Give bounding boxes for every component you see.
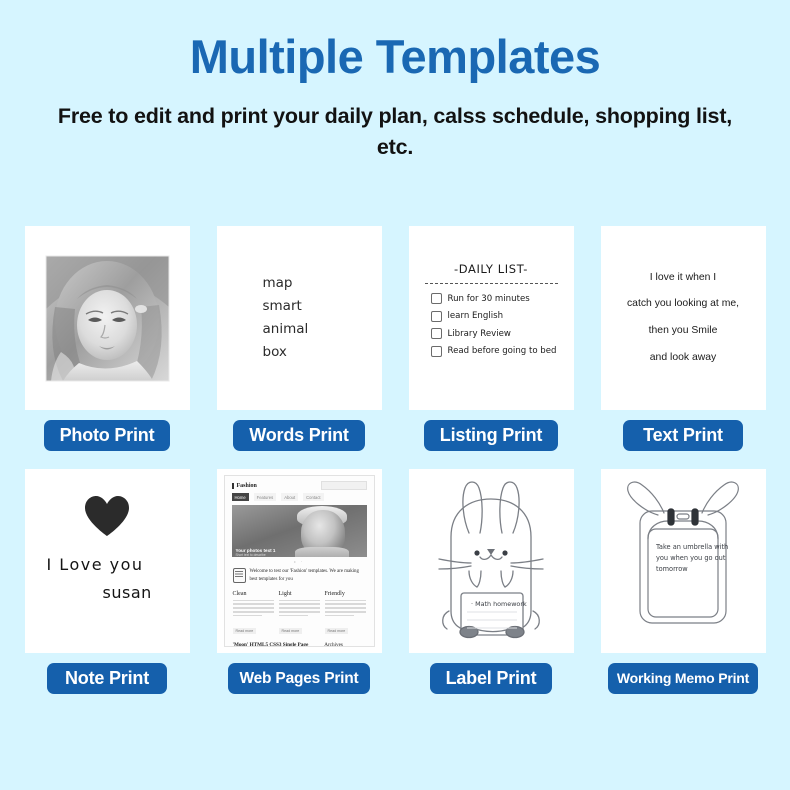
page-header: Multiple Templates Free to edit and prin… xyxy=(0,0,790,163)
template-cell-text-print: I love it when I catch you looking at me… xyxy=(601,226,766,451)
template-cell-listing-print: -DAILY LIST- Run for 30 minutes learn En… xyxy=(409,226,574,451)
sidebar-heading: Archives xyxy=(324,642,365,647)
bottom-heading: 'Moon' HTML5 CSS3 Single Page Layout xyxy=(233,642,320,647)
template-card-web-pages-print[interactable]: Fashion Home Features About Contact Your… xyxy=(217,469,382,653)
webpage-screenshot: Fashion Home Features About Contact Your… xyxy=(224,475,375,647)
label-print-button[interactable]: Label Print xyxy=(430,663,553,694)
webpage-nav: Home Features About Contact xyxy=(225,493,374,505)
webpage-hero-image: Your photos text 1 Short text to describ… xyxy=(232,505,367,557)
memo-line-3: tomorrow xyxy=(656,565,688,573)
carousel-dots-icon: • · xyxy=(225,559,374,564)
column-heading: Light xyxy=(279,591,320,597)
page-subtitle: Free to edit and print your daily plan, … xyxy=(45,101,745,163)
webpage-column: Friendly Read more xyxy=(325,591,366,637)
word-item: smart xyxy=(263,295,382,318)
memo-line-2: you when you go out xyxy=(656,554,726,562)
template-card-label-print[interactable]: · Math homework xyxy=(409,469,574,653)
template-card-working-memo-print[interactable]: Take an umbrella with you when you go ou… xyxy=(601,469,766,653)
word-item: box xyxy=(263,341,382,364)
column-text-placeholder xyxy=(279,600,320,617)
template-cell-working-memo-print: Take an umbrella with you when you go ou… xyxy=(601,469,766,694)
webpage-header: Fashion xyxy=(225,476,374,493)
webpage-nav-item: Contact xyxy=(303,493,323,501)
text-line: and look away xyxy=(650,345,716,372)
label-text: · Math homework xyxy=(471,600,527,608)
daily-list-title: -DAILY LIST- xyxy=(423,262,560,276)
checkbox-icon[interactable] xyxy=(431,346,442,357)
note-line-1: I Love you xyxy=(47,555,144,574)
html5-badge-icon xyxy=(233,568,246,583)
read-more-link: Read more xyxy=(233,628,257,634)
webpage-welcome-text: Welcome to test our 'Fashion' templates.… xyxy=(250,568,366,584)
checkbox-icon[interactable] xyxy=(431,293,442,304)
list-item-label: Run for 30 minutes xyxy=(448,294,530,304)
list-item: Run for 30 minutes xyxy=(431,293,560,304)
word-list: map smart animal box xyxy=(217,226,382,410)
webpage-logo: Fashion xyxy=(232,483,257,489)
photo-print-button[interactable]: Photo Print xyxy=(44,420,171,451)
webpage-column: Light Read more xyxy=(279,591,320,637)
column-text-placeholder xyxy=(233,600,274,617)
checkbox-icon[interactable] xyxy=(431,311,442,322)
list-item-label: Library Review xyxy=(448,329,511,339)
working-memo-print-button[interactable]: Working Memo Print xyxy=(608,663,758,694)
text-print-button[interactable]: Text Print xyxy=(623,420,743,451)
list-item: Read before going to bed xyxy=(431,346,560,357)
template-grid: Photo Print map smart animal box Words P… xyxy=(0,226,790,694)
read-more-link: Read more xyxy=(279,628,303,634)
template-card-words-print[interactable]: map smart animal box xyxy=(217,226,382,410)
webpage-nav-item: About xyxy=(281,493,298,501)
template-cell-note-print: I Love you susan Note Print xyxy=(25,469,190,694)
template-cell-words-print: map smart animal box Words Print xyxy=(217,226,382,451)
list-item-label: Read before going to bed xyxy=(448,346,557,356)
webpage-nav-item: Features xyxy=(254,493,277,501)
note-content: I Love you susan xyxy=(25,469,190,653)
text-line: then you Smile xyxy=(649,318,718,345)
webpage-search-box xyxy=(321,481,367,490)
webpage-columns: Clean Read more Light Read more Friendly xyxy=(225,588,374,637)
heart-icon xyxy=(84,495,130,537)
column-text-placeholder xyxy=(325,600,366,617)
word-item: map xyxy=(263,272,382,295)
read-more-link: Read more xyxy=(325,628,349,634)
note-print-button[interactable]: Note Print xyxy=(47,663,167,694)
memo-badge-outline-icon: Take an umbrella with you when you go ou… xyxy=(614,477,752,645)
webpage-bottom-main: 'Moon' HTML5 CSS3 Single Page Layout Rea… xyxy=(233,642,320,647)
webpage-bottom: 'Moon' HTML5 CSS3 Single Page Layout Rea… xyxy=(225,637,374,647)
text-line: I love it when I xyxy=(650,265,716,292)
bunny-label-art: · Math homework xyxy=(409,469,574,653)
template-card-text-print[interactable]: I love it when I catch you looking at me… xyxy=(601,226,766,410)
memo-line-1: Take an umbrella with xyxy=(655,543,728,551)
memo-badge-art: Take an umbrella with you when you go ou… xyxy=(601,469,766,653)
listing-print-button[interactable]: Listing Print xyxy=(424,420,558,451)
note-line-2: susan xyxy=(103,583,152,602)
daily-list: -DAILY LIST- Run for 30 minutes learn En… xyxy=(409,226,574,410)
webpage-nav-item: Home xyxy=(232,493,249,501)
checkbox-icon[interactable] xyxy=(431,328,442,339)
page-title: Multiple Templates xyxy=(0,32,790,83)
column-heading: Clean xyxy=(233,591,274,597)
webpage-sidebar: Archives xyxy=(324,642,365,647)
word-item: animal xyxy=(263,318,382,341)
template-cell-web-pages-print: Fashion Home Features About Contact Your… xyxy=(217,469,382,694)
list-item-label: learn English xyxy=(448,311,504,321)
list-item: learn English xyxy=(431,311,560,322)
webpage-column: Clean Read more xyxy=(233,591,274,637)
template-card-listing-print[interactable]: -DAILY LIST- Run for 30 minutes learn En… xyxy=(409,226,574,410)
photo-thumbnail xyxy=(41,247,174,390)
text-lines: I love it when I catch you looking at me… xyxy=(601,226,766,410)
list-item: Library Review xyxy=(431,328,560,339)
template-cell-label-print: · Math homework Label Print xyxy=(409,469,574,694)
templates-page: Multiple Templates Free to edit and prin… xyxy=(0,0,790,790)
webpage-welcome: Welcome to test our 'Fashion' templates.… xyxy=(225,566,374,588)
text-line: catch you looking at me, xyxy=(627,291,739,318)
hero-body-shape xyxy=(295,547,349,557)
template-card-photo-print[interactable] xyxy=(25,226,190,410)
dashed-divider xyxy=(425,283,558,284)
column-heading: Friendly xyxy=(325,591,366,597)
hero-sublabel: Short text to describe xyxy=(236,553,266,557)
template-card-note-print[interactable]: I Love you susan xyxy=(25,469,190,653)
template-cell-photo-print: Photo Print xyxy=(25,226,190,451)
web-pages-print-button[interactable]: Web Pages Print xyxy=(228,663,369,694)
bunny-outline-icon: · Math homework xyxy=(425,475,557,647)
words-print-button[interactable]: Words Print xyxy=(233,420,364,451)
